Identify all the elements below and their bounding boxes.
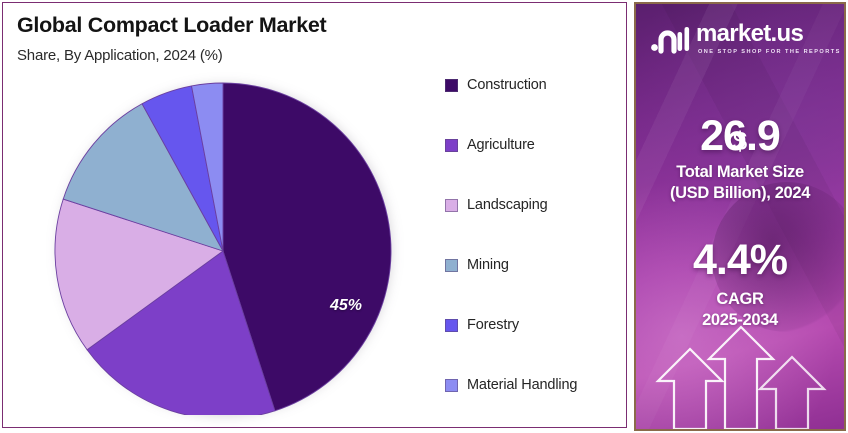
legend-swatch-icon: [445, 139, 458, 152]
market-size-caption-line2: (USD Billion), 2024: [670, 184, 810, 202]
pie-chart: 45%: [51, 75, 401, 415]
market-us-logo-icon: [650, 23, 690, 55]
pie-chart-svg: [51, 75, 401, 415]
pie-slice-group: [55, 83, 391, 415]
legend-item-label: Agriculture: [467, 137, 535, 153]
legend-swatch-icon: [445, 319, 458, 332]
legend-item[interactable]: Agriculture: [445, 133, 625, 157]
infographic-canvas: Global Compact Loader Market Share, By A…: [0, 0, 848, 433]
dollar-sign-icon: $: [636, 126, 844, 157]
legend-item-label: Material Handling: [467, 377, 577, 393]
legend-swatch-icon: [445, 199, 458, 212]
chart-panel: Global Compact Loader Market Share, By A…: [2, 2, 627, 428]
legend-swatch-icon: [445, 379, 458, 392]
chart-title: Global Compact Loader Market: [17, 13, 326, 38]
legend-item-label: Construction: [467, 77, 547, 93]
brand-name: market.us: [696, 22, 841, 46]
growth-arrows-icon: [636, 319, 846, 429]
legend-item[interactable]: Material Handling: [445, 373, 625, 397]
pie-slice-label-construction: 45%: [330, 297, 362, 315]
brand-tagline: ONE STOP SHOP FOR THE REPORTS: [698, 50, 841, 56]
legend-item[interactable]: Construction: [445, 73, 625, 97]
market-size-caption: Total Market Size (USD Billion), 2024: [636, 162, 844, 203]
legend-item[interactable]: Landscaping: [445, 193, 625, 217]
legend-item[interactable]: Mining: [445, 253, 625, 277]
brand-logo: market.us ONE STOP SHOP FOR THE REPORTS: [650, 22, 841, 56]
legend-swatch-icon: [445, 259, 458, 272]
chart-legend: ConstructionAgricultureLandscapingMining…: [445, 73, 625, 433]
chart-subtitle: Share, By Application, 2024 (%): [17, 47, 223, 64]
legend-item-label: Landscaping: [467, 197, 548, 213]
market-size-caption-line1: Total Market Size: [676, 163, 804, 181]
cagr-caption-line1: CAGR: [716, 290, 763, 308]
brand-panel: market.us ONE STOP SHOP FOR THE REPORTS …: [634, 2, 846, 431]
legend-item[interactable]: Forestry: [445, 313, 625, 337]
legend-swatch-icon: [445, 79, 458, 92]
legend-item-label: Mining: [467, 257, 509, 273]
cagr-value: 4.4%: [636, 236, 844, 285]
legend-item-label: Forestry: [467, 317, 519, 333]
